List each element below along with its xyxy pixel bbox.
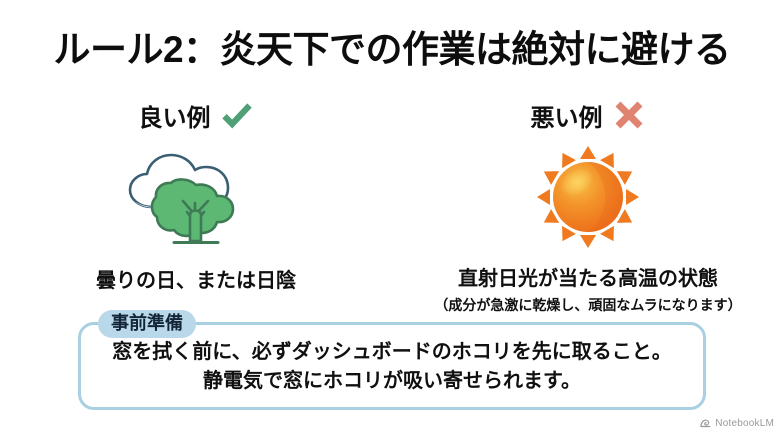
sun-icon (524, 144, 652, 250)
note-line-1: 窓を拭く前に、必ずダッシュボードのホコリを先に取ること。 (81, 338, 703, 367)
notebooklm-watermark: NotebookLM (700, 418, 774, 429)
bad-example-header: 悪い例 (531, 98, 646, 132)
note-line-2: 静電気で窓にホコリが吸い寄せられます。 (81, 367, 703, 396)
preparation-note-box: 事前準備 窓を拭く前に、必ずダッシュボードのホコリを先に取ること。 静電気で窓に… (78, 322, 706, 410)
cross-icon (612, 98, 646, 132)
column-bad-example: 悪い例 (392, 98, 784, 313)
check-icon (220, 98, 254, 132)
bad-example-subcaption: （成分が急激に乾燥し、頑固なムラになります） (434, 295, 741, 315)
preparation-note-body: 窓を拭く前に、必ずダッシュボードのホコリを先に取ること。 静電気で窓にホコリが吸… (81, 338, 703, 396)
bad-example-label: 悪い例 (531, 98, 603, 133)
page-title: ルール2：炎天下での作業は絶対に避ける (0, 30, 784, 71)
comparison-columns: 良い例 (0, 98, 784, 313)
bad-example-caption: 直射日光が当たる高温の状態 (458, 262, 718, 291)
watermark-text: NotebookLM (715, 418, 774, 429)
notebooklm-logo-icon (700, 418, 711, 429)
cloud-tree-icon (120, 144, 272, 252)
slide-canvas: ルール2：炎天下での作業は絶対に避ける 良い例 (0, 0, 784, 438)
column-good-example: 良い例 (0, 98, 392, 313)
good-example-label: 良い例 (139, 98, 211, 133)
good-example-caption: 曇りの日、または日陰 (96, 264, 296, 293)
good-example-header: 良い例 (139, 98, 254, 132)
preparation-note-label: 事前準備 (98, 310, 196, 338)
